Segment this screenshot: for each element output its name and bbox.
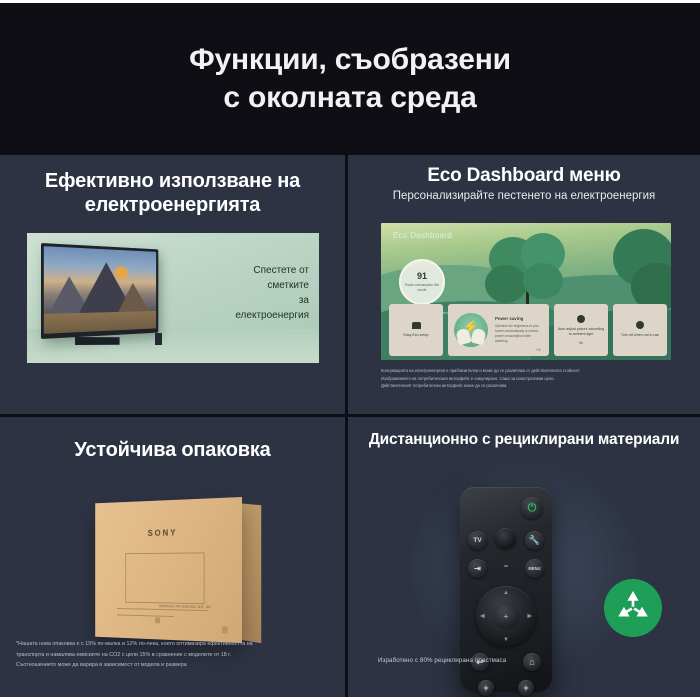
box-front-face: SONY BRAVIA XR-65X90L 65" 4K (95, 497, 242, 643)
eco-footnote-line1: Консумацията на електроенергия е приблиз… (381, 367, 677, 375)
packaging-box-image: SONY BRAVIA XR-65X90L 65" 4K (74, 497, 274, 647)
card-power-link[interactable]: OK (536, 348, 541, 352)
card-ambient-light[interactable]: Auto adjust picture according to ambient… (554, 304, 608, 356)
caption-line3: за (205, 293, 309, 308)
feature-grid: Ефективно използване на електроенергията (0, 155, 700, 697)
dpad-center-button[interactable]: + (493, 603, 520, 630)
page-title-line1: Функции, съобразени (189, 43, 511, 76)
energy-gauge: 91 Power consumption this month (399, 259, 445, 305)
card-last-text: Turn off when not in use (618, 333, 662, 338)
caption-line2: сметките (205, 278, 309, 293)
packaging-footnote-line3: Съотношението може да варира в зависимос… (16, 660, 336, 671)
input-button[interactable]: ⇥ (468, 559, 487, 578)
gauge-value: 91 (417, 271, 427, 281)
tv-foot (155, 333, 162, 345)
card-light-text: Auto adjust picture according to ambient… (554, 327, 608, 338)
dpad[interactable]: ▲ ▼ ◀ ▶ + (476, 586, 536, 646)
tv-product-image: Спестете от сметките за електроенергия (27, 233, 319, 363)
hero-banner: Функции, съобразени с околната среда (0, 3, 700, 155)
gauge-caption: Power consumption this month (401, 283, 443, 293)
box-tv-outline (125, 553, 204, 604)
card-setup-label: Easy Eco setup (401, 333, 432, 338)
power-saving-body: Power saving Optimise the brightness of … (495, 316, 543, 345)
power-off-icon (636, 321, 644, 329)
promo-page: Функции, съобразени с околната среда Ефе… (0, 0, 700, 700)
panel-recycled-remote: Дистанционно с рециклирани материали ⏻ T… (348, 417, 700, 697)
eco-panel-subtitle: Персонализирайте пестенето на електроене… (358, 190, 690, 202)
remote-caption: Изработено с 80% рециклирана пластмаса (378, 657, 506, 664)
card-light-state: On (579, 341, 583, 345)
ambient-light-icon (577, 315, 585, 323)
page-title: Функции, съобразени с околната среда (189, 41, 511, 118)
card-power-saving[interactable]: ⚡ Power saving Optimise the brightness o… (448, 304, 549, 356)
volume-up-button[interactable]: + (478, 680, 494, 696)
menu-button[interactable]: MENU (525, 559, 544, 578)
tv-stand (75, 337, 120, 345)
tv-screen (44, 246, 156, 334)
tv-button[interactable]: TV (468, 531, 487, 550)
packaging-footnote-line2: транспорта и намалява емисиите на CO2 с … (16, 650, 336, 661)
energy-title-line1: Ефективно използване на (45, 170, 300, 192)
panel-sustainable-packaging: Устойчива опаковка SONY BRAVIA XR-65X90L… (0, 417, 348, 697)
tree-foliage (485, 265, 527, 303)
card-easy-eco-setup[interactable]: Easy Eco setup (389, 304, 443, 356)
home-button[interactable]: ⌂ (523, 653, 541, 671)
packaging-panel-title: Устойчива опаковка (16, 439, 329, 462)
energy-title-line2: електроенергията (85, 194, 260, 216)
remote-led (504, 565, 508, 567)
dpad-left-icon[interactable]: ◀ (480, 613, 485, 620)
card-power-text: Optimise the brightness of your screen a… (495, 324, 543, 345)
channel-up-button[interactable]: + (518, 680, 534, 696)
energy-panel-title: Ефективно използване на електроенергията (16, 169, 329, 218)
dpad-down-icon[interactable]: ▼ (503, 637, 509, 643)
panel-eco-dashboard: Eco Dashboard меню Персонализирайте пест… (348, 155, 700, 417)
eco-dashboard-cards: Easy Eco setup ⚡ Power saving Optimise t… (389, 304, 667, 356)
card-power-title: Power saving (495, 316, 543, 321)
eco-dashboard-screenshot: Eco Dashboard 91 Power consumption this … (381, 223, 671, 360)
eco-footnote-line2: Изображението на потребителския интерфей… (381, 375, 677, 383)
panel-energy-efficiency: Ефективно използване на електроенергията (0, 155, 348, 417)
eco-panel-title: Eco Dashboard меню (360, 165, 688, 187)
hands-bolt-icon: ⚡ (454, 313, 488, 347)
eco-footnote: Консумацията на електроенергия е приблиз… (381, 367, 677, 390)
ground-shape (44, 311, 156, 334)
settings-wrench-button[interactable]: 🔧 (525, 531, 544, 550)
page-title-line2: с околната среда (189, 79, 511, 117)
dpad-up-icon[interactable]: ▲ (503, 590, 509, 596)
box-brand-logo: SONY (148, 528, 178, 538)
packaging-footnote-line1: *Нашата нова опаковка е с 15% по-малка и… (16, 639, 336, 650)
tv-body (41, 243, 158, 339)
mountain-shape (117, 283, 150, 314)
packaging-footnote: *Нашата нова опаковка е с 15% по-малка и… (16, 639, 336, 671)
power-button[interactable]: ⏻ (521, 497, 543, 519)
dpad-right-icon[interactable]: ▶ (527, 613, 532, 620)
energy-savings-caption: Спестете от сметките за електроенергия (205, 263, 309, 323)
microphone-button[interactable] (495, 528, 516, 549)
hand-right (470, 328, 486, 346)
eco-dashboard-header-label: Eco Dashboard (393, 231, 452, 240)
caption-line1: Спестете от (205, 263, 309, 278)
eco-setup-icon (412, 322, 421, 329)
box-badge-icon (155, 617, 160, 623)
box-corner-mark (222, 627, 228, 634)
card-turn-off[interactable]: Turn off when not in use (613, 304, 667, 356)
remote-image: ⏻ TV 🔧 ⇥ MENU ▲ ▼ ◀ ▶ + ↩ ⌂ (348, 417, 700, 697)
box-print-line (117, 615, 174, 618)
caption-line4: електроенергия (205, 308, 309, 323)
tree-foliage (523, 263, 563, 299)
recycle-icon (604, 579, 662, 637)
eco-footnote-line3: Действителният потребителски интерфейс м… (381, 382, 677, 390)
